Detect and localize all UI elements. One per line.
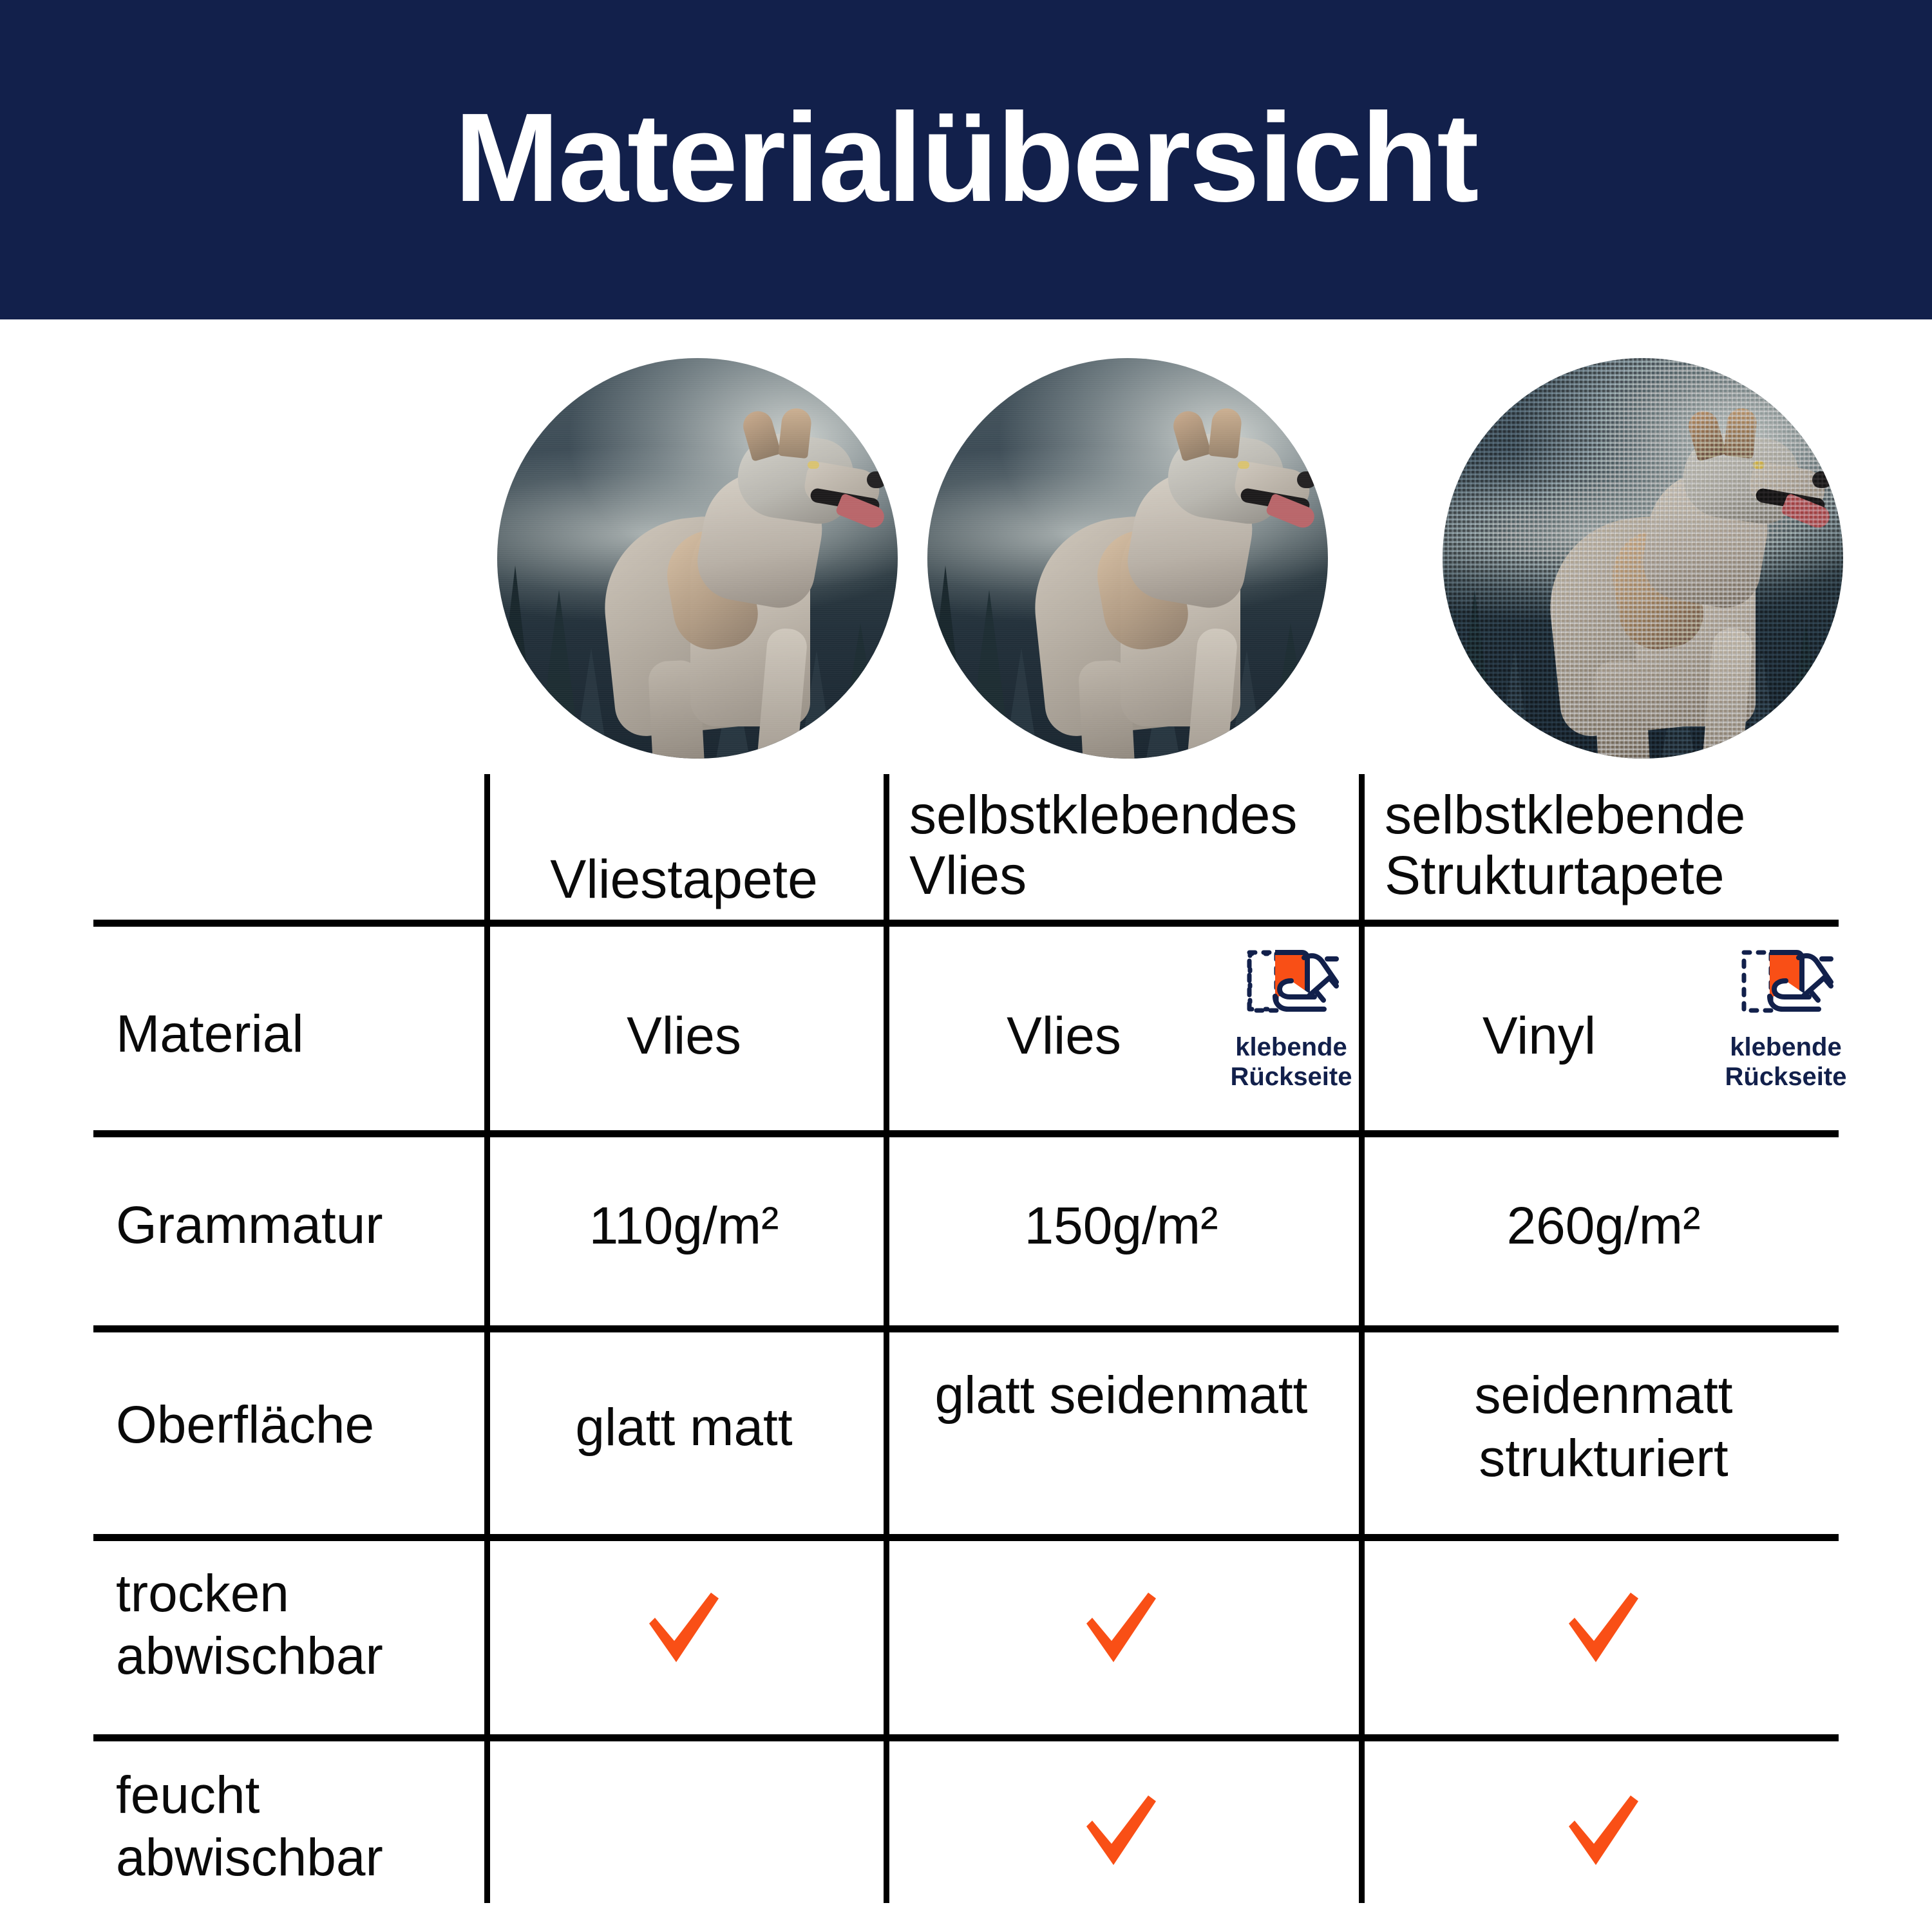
- cell-trocken-selbstklebendes-vlies: [884, 1581, 1359, 1678]
- row-label-feucht-abwischbar: feucht abwischbar: [116, 1765, 477, 1889]
- row-label-material: Material: [116, 1003, 477, 1066]
- adhesive-badge-line1: klebende: [1705, 1032, 1866, 1062]
- row-label-oberflaeche: Oberfläche: [116, 1394, 477, 1457]
- cell-feucht-selbstklebendes-vlies: [884, 1784, 1359, 1880]
- cell-grammatur-vliestapete: 110g/m²: [484, 1195, 884, 1258]
- peel-adhesive-back-icon: [1705, 942, 1866, 1026]
- column-header-vliestapete: Vliestapete: [484, 791, 884, 909]
- row-label-trocken-abwischbar: trocken abwischbar: [116, 1563, 477, 1688]
- adhesive-badge-label: klebende Rückseite: [1705, 1032, 1866, 1092]
- material-comparison-table: Vliestapete selbstklebendes Vlies selbst…: [0, 0, 1932, 1932]
- cell-oberflaeche-selbstklebende-strukturtapete: seidenmatt strukturiert: [1359, 1364, 1848, 1491]
- cell-trocken-vliestapete: [484, 1581, 884, 1678]
- checkmark-icon: [484, 1581, 884, 1678]
- adhesive-back-badge: klebende Rückseite: [1705, 942, 1866, 1092]
- cell-trocken-selbstklebende-strukturtapete: [1359, 1581, 1848, 1678]
- adhesive-badge-line1: klebende: [1211, 1032, 1372, 1062]
- adhesive-back-badge: klebende Rückseite: [1211, 942, 1372, 1092]
- row-divider-1: [93, 920, 1839, 927]
- checkmark-icon: [1359, 1581, 1848, 1678]
- row-divider-3: [93, 1325, 1839, 1332]
- checkmark-icon: [1359, 1784, 1848, 1880]
- cell-material-vliestapete: Vlies: [484, 1005, 884, 1068]
- column-header-selbstklebendes-vlies: selbstklebendes Vlies: [909, 784, 1360, 905]
- cell-grammatur-selbstklebendes-vlies: 150g/m²: [884, 1195, 1359, 1258]
- adhesive-badge-line2: Rückseite: [1211, 1062, 1372, 1092]
- adhesive-badge-label: klebende Rückseite: [1211, 1032, 1372, 1092]
- cell-material-selbstklebende-strukturtapete: Vinyl: [1359, 1005, 1719, 1068]
- column-header-selbstklebende-strukturtapete: selbstklebende Strukturtapete: [1385, 784, 1874, 905]
- cell-oberflaeche-vliestapete: glatt matt: [484, 1396, 884, 1459]
- row-divider-5: [93, 1734, 1839, 1741]
- adhesive-badge-line2: Rückseite: [1705, 1062, 1866, 1092]
- cell-feucht-selbstklebende-strukturtapete: [1359, 1784, 1848, 1880]
- cell-oberflaeche-selbstklebendes-vlies: glatt seidenmatt: [884, 1364, 1359, 1427]
- cell-grammatur-selbstklebende-strukturtapete: 260g/m²: [1359, 1195, 1848, 1258]
- row-divider-4: [93, 1534, 1839, 1541]
- peel-adhesive-back-icon: [1211, 942, 1372, 1026]
- row-divider-2: [93, 1130, 1839, 1137]
- row-label-grammatur: Grammatur: [116, 1195, 477, 1257]
- checkmark-icon: [884, 1784, 1359, 1880]
- checkmark-icon: [884, 1581, 1359, 1678]
- cell-material-selbstklebendes-vlies: Vlies: [884, 1005, 1244, 1068]
